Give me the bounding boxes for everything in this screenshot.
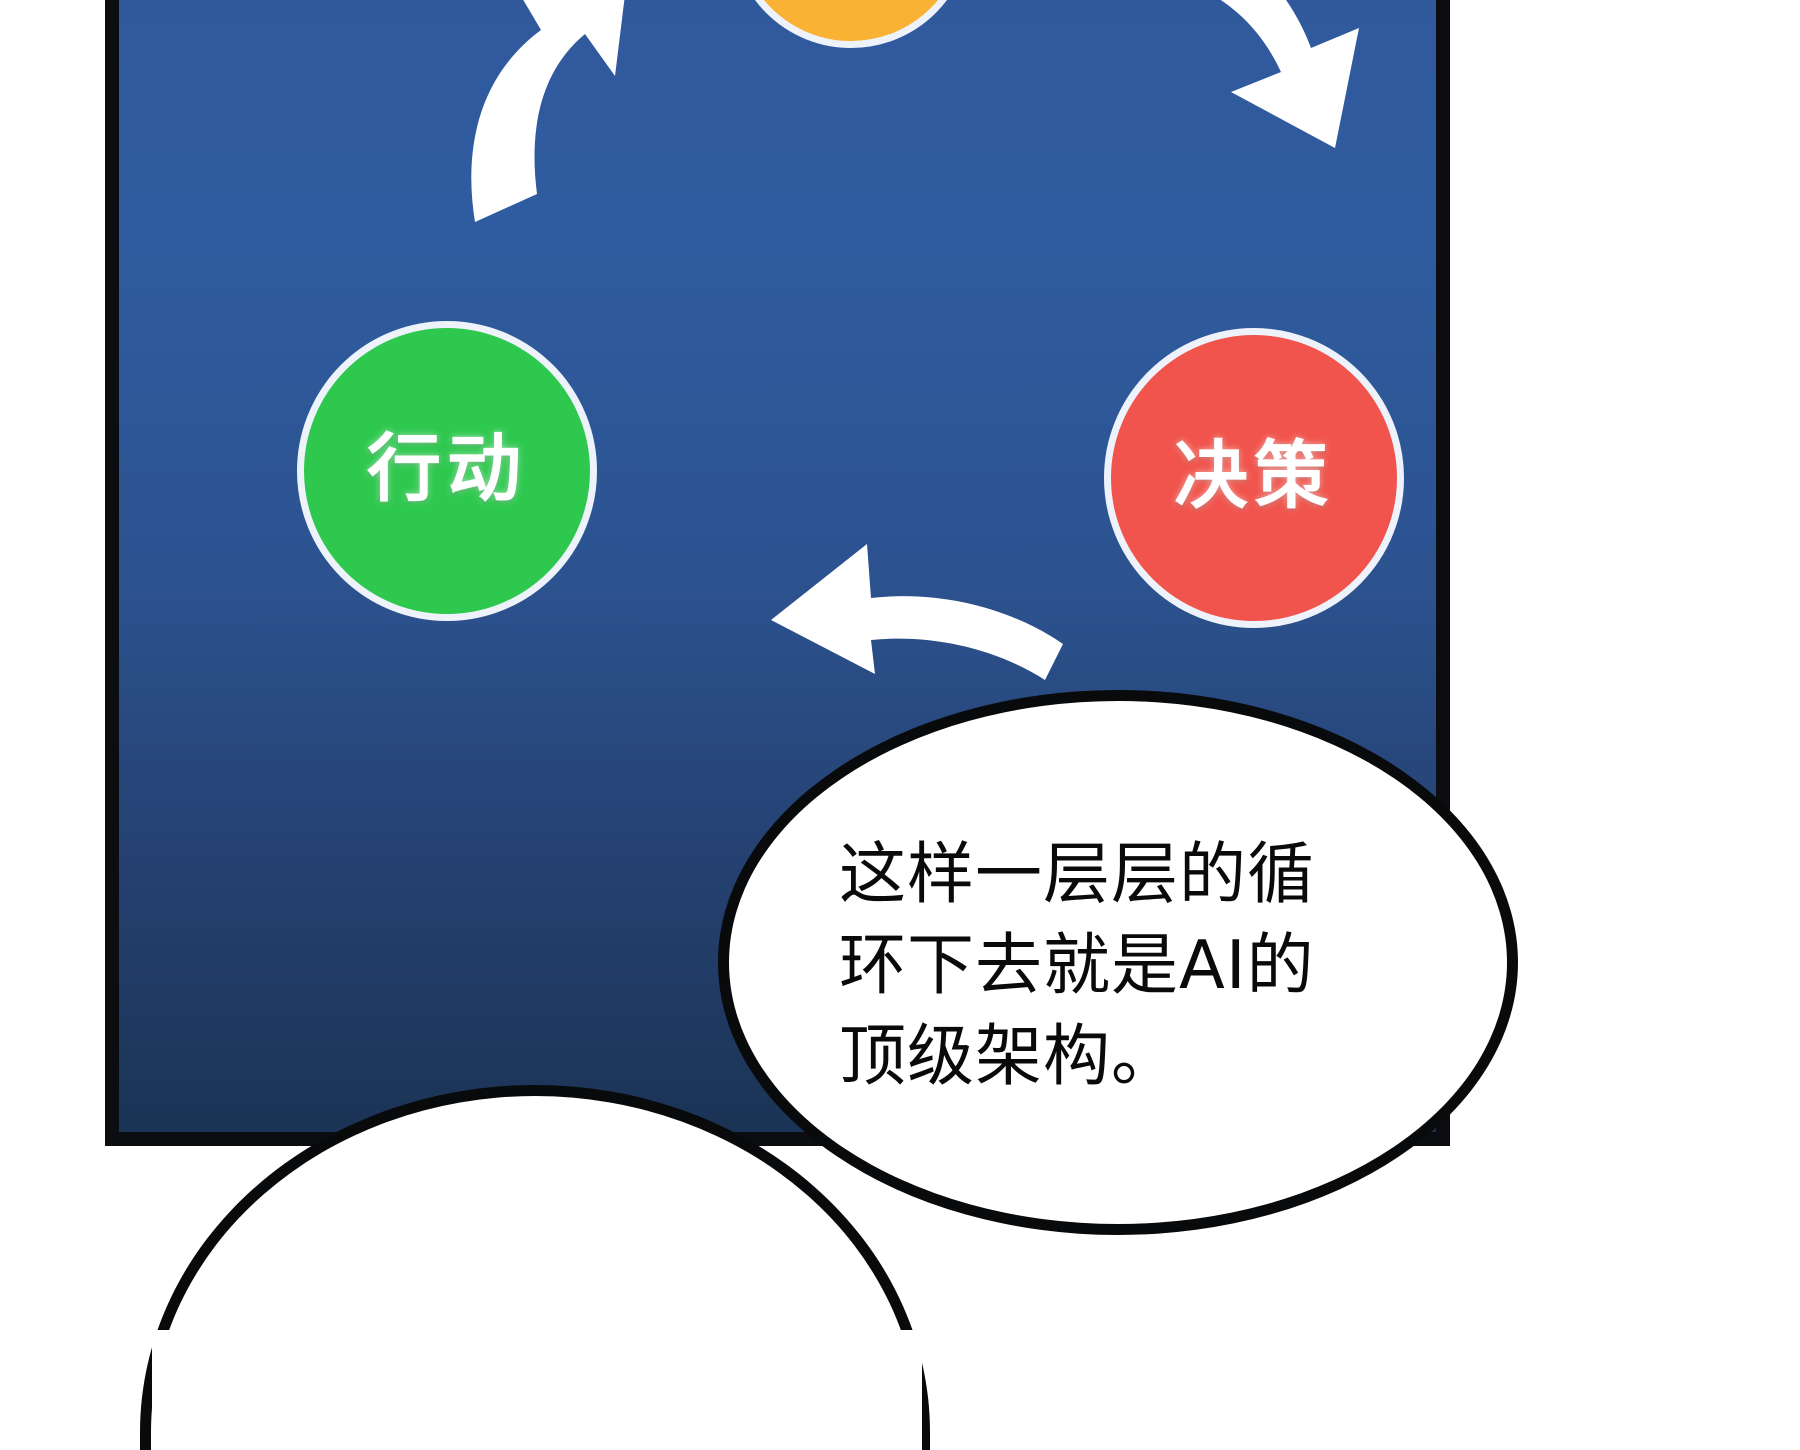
speech-bubble[interactable]: 这样一层层的循 环下去就是AI的 顶级架构。: [718, 690, 1518, 1235]
diagram-node-action[interactable]: 行动: [297, 321, 597, 621]
speech-bubble-line-2: 环下去就是AI的: [839, 920, 1439, 1011]
speech-bubble-line-1: 这样一层层的循: [839, 829, 1439, 920]
speech-bubble-line-3: 顶级架构。: [839, 1011, 1439, 1102]
curved-arrow-down-right-icon: [1049, 0, 1449, 236]
speech-bubble-text: 这样一层层的循 环下去就是AI的 顶级架构。: [839, 829, 1439, 1102]
diagram-node-decision[interactable]: 决策: [1104, 328, 1404, 628]
comic-page: 行动 决策 这样一层层的循 环下去就是AI的: [0, 0, 1800, 1450]
curved-arrow-left-icon: [689, 516, 1069, 696]
speaker-silhouette-base-mask: [152, 1330, 922, 1450]
diagram-node-perception[interactable]: [731, 0, 971, 48]
diagram-node-action-label: 行动: [367, 432, 527, 506]
diagram-node-decision-label: 决策: [1174, 439, 1334, 513]
curved-arrow-up-right-icon: [419, 0, 779, 226]
